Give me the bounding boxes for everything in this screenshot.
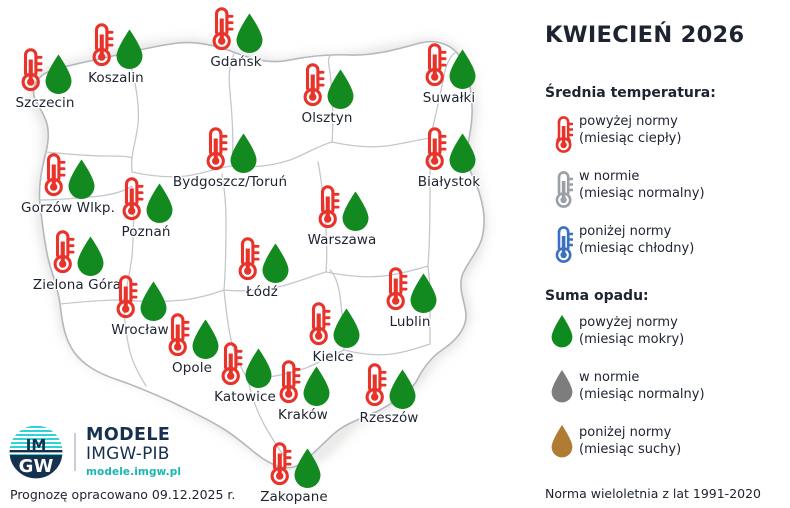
thermometer-icon xyxy=(17,45,43,95)
city-icons xyxy=(275,355,332,407)
thermometer-icon xyxy=(118,174,144,224)
city-label: Białystok xyxy=(418,174,480,190)
norm-period-note: Norma wieloletnia z lat 1991-2020 xyxy=(545,486,761,501)
thermometer-icon xyxy=(217,339,243,389)
temperature-legend-heading: Średnia temperatura: xyxy=(545,85,716,101)
city-icons xyxy=(305,297,362,349)
city-icons xyxy=(202,122,259,174)
legend-item-label: powyżej normy (miesiąc ciepły) xyxy=(579,113,681,147)
droplet-icon xyxy=(229,132,259,174)
legend-item-precipitation-below: poniżej normy (miesiąc suchy) xyxy=(545,424,681,458)
imgw-logo: IM GW MODELE IMGW-PIB modele.imgw.pl xyxy=(8,424,181,480)
thermometer-icon xyxy=(545,223,579,265)
logo-subtitle: IMGW-PIB xyxy=(86,446,181,464)
droplet-icon xyxy=(67,158,97,200)
prepared-date-note: Prognozę opracowano 09.12.2025 r. xyxy=(10,487,235,502)
city-label: Zielona Góra xyxy=(33,277,121,293)
legend-item-label: powyżej normy (miesiąc mokry) xyxy=(579,314,684,348)
droplet-icon xyxy=(44,53,74,95)
city-icons xyxy=(112,270,169,322)
city-label: Koszalin xyxy=(88,70,144,86)
legend-item-temperature-above: powyżej normy (miesiąc ciepły) xyxy=(545,113,681,155)
city-icons xyxy=(49,225,106,277)
thermometer-icon xyxy=(88,20,114,70)
logo-mark-top-text: IM xyxy=(26,436,47,454)
city-label: Opole xyxy=(172,360,212,376)
city-icons xyxy=(208,2,265,54)
thermometer-icon xyxy=(275,357,301,407)
city-icons xyxy=(164,308,221,360)
legend-item-label: poniżej normy (miesiąc suchy) xyxy=(579,424,681,458)
thermometer-icon xyxy=(164,310,190,360)
city-icons xyxy=(382,262,439,314)
legend-item-temperature-normal: w normie (miesiąc normalny) xyxy=(545,168,705,210)
droplet-icon xyxy=(409,272,439,314)
thermometer-icon xyxy=(421,124,447,174)
forecast-infographic: Szczecin Koszalin xyxy=(0,0,790,508)
legend-item-label: poniżej normy (miesiąc chłodny) xyxy=(579,223,694,257)
city-icons xyxy=(299,58,356,110)
thermometer-icon xyxy=(421,40,447,90)
city-label: Warszawa xyxy=(308,232,377,248)
droplet-icon xyxy=(115,28,145,70)
logo-url[interactable]: modele.imgw.pl xyxy=(86,467,181,478)
thermometer-icon xyxy=(49,227,75,277)
droplet-icon xyxy=(545,314,579,348)
logo-mark-bottom-text: GW xyxy=(19,456,54,477)
droplet-icon xyxy=(293,447,323,489)
droplet-icon xyxy=(448,132,478,174)
droplet-icon xyxy=(235,12,265,54)
city-icons xyxy=(421,38,478,90)
droplet-icon xyxy=(244,347,274,389)
thermometer-icon xyxy=(382,264,408,314)
city-icons xyxy=(118,172,175,224)
thermometer-icon xyxy=(112,272,138,322)
city-label: Olsztyn xyxy=(301,110,352,126)
thermometer-icon xyxy=(305,299,331,349)
droplet-icon xyxy=(341,190,371,232)
droplet-icon xyxy=(388,368,418,410)
city-icons xyxy=(361,358,418,410)
droplet-icon xyxy=(332,307,362,349)
thermometer-icon xyxy=(314,182,340,232)
city-label: Szczecin xyxy=(16,95,75,111)
city-label: Gdańsk xyxy=(210,54,261,70)
logo-title: MODELE xyxy=(86,426,181,444)
city-icons xyxy=(40,148,97,200)
city-icons xyxy=(421,122,478,174)
droplet-icon xyxy=(145,182,175,224)
droplet-icon xyxy=(261,242,291,284)
logo-text-block: MODELE IMGW-PIB modele.imgw.pl xyxy=(86,426,181,477)
droplet-icon xyxy=(76,235,106,277)
thermometer-icon xyxy=(361,360,387,410)
legend-item-temperature-below: poniżej normy (miesiąc chłodny) xyxy=(545,223,694,265)
precipitation-legend-heading: Suma opadu: xyxy=(545,288,649,304)
city-icons xyxy=(234,232,291,284)
droplet-icon xyxy=(326,68,356,110)
city-icons xyxy=(217,337,274,389)
thermometer-icon xyxy=(202,124,228,174)
droplet-icon xyxy=(302,365,332,407)
city-label: Wrocław xyxy=(111,322,169,338)
city-icons xyxy=(17,43,74,95)
droplet-icon xyxy=(448,48,478,90)
city-label: Bydgoszcz/Toruń xyxy=(173,174,287,190)
city-icons xyxy=(88,18,145,70)
city-icons xyxy=(266,437,323,489)
city-label: Lublin xyxy=(389,314,430,330)
legend-panel: KWIECIEŃ 2026 Średnia temperatura: xyxy=(520,0,790,508)
page-title: KWIECIEŃ 2026 xyxy=(545,22,744,48)
droplet-icon xyxy=(545,424,579,458)
city-icons xyxy=(314,180,371,232)
city-label: Poznań xyxy=(122,224,171,240)
city-label: Rzeszów xyxy=(360,410,419,426)
city-label: Suwałki xyxy=(423,90,476,106)
thermometer-icon xyxy=(545,113,579,155)
imgw-logo-mark: IM GW xyxy=(8,424,64,480)
legend-item-label: w normie (miesiąc normalny) xyxy=(579,369,705,403)
thermometer-icon xyxy=(208,4,234,54)
thermometer-icon xyxy=(234,234,260,284)
legend-item-precipitation-normal: w normie (miesiąc normalny) xyxy=(545,369,705,403)
city-label: Kraków xyxy=(278,407,328,423)
droplet-icon xyxy=(545,369,579,403)
city-label: Gorzów Wlkp. xyxy=(21,200,115,216)
legend-item-precipitation-above: powyżej normy (miesiąc mokry) xyxy=(545,314,684,348)
city-label: Zakopane xyxy=(260,489,328,505)
thermometer-icon xyxy=(545,168,579,210)
thermometer-icon xyxy=(266,439,292,489)
legend-item-label: w normie (miesiąc normalny) xyxy=(579,168,705,202)
thermometer-icon xyxy=(40,150,66,200)
city-label: Łódź xyxy=(246,284,278,300)
city-label: Katowice xyxy=(214,389,276,405)
logo-divider xyxy=(74,433,76,471)
thermometer-icon xyxy=(299,60,325,110)
